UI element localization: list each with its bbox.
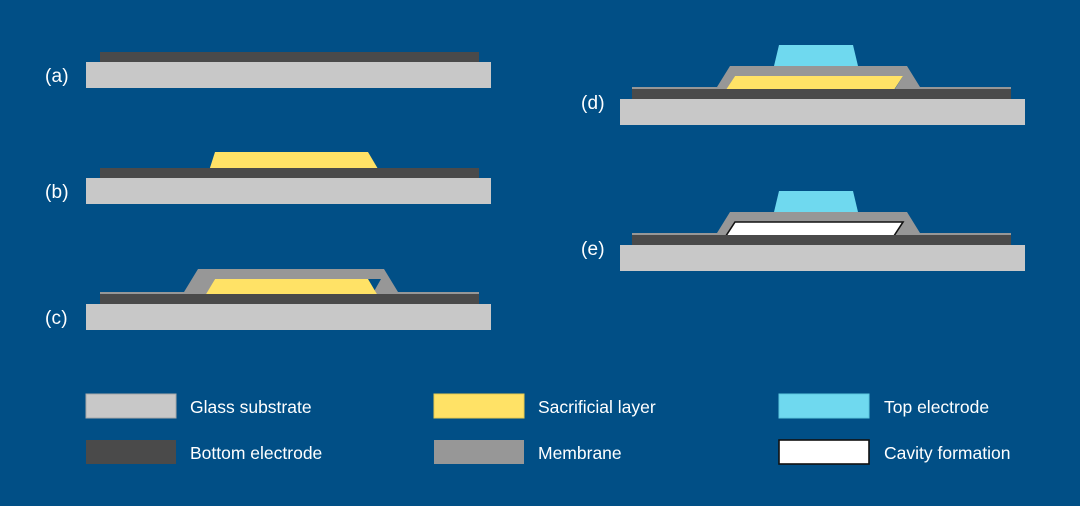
panel-label-e: (e) [581, 239, 605, 261]
legend-label-cavity-formation: Cavity formation [884, 443, 1010, 464]
legend-swatch-cavity-formation [779, 440, 869, 464]
panel-a-bottom-electrode [100, 52, 479, 62]
legend-swatch-bottom-electrode [86, 440, 176, 464]
figure-canvas: (a) (b) (c) (d) (e) Glass substrate Bott… [0, 0, 1080, 506]
panel-c-graphic [86, 269, 491, 330]
panel-d-bottom-electrode [632, 89, 1011, 99]
panel-c-glass-substrate [86, 304, 491, 330]
panel-a-glass-substrate [86, 62, 491, 88]
panel-label-d: (d) [581, 93, 605, 115]
legend-swatch-membrane [434, 440, 524, 464]
panel-e-top-electrode [774, 191, 858, 212]
legend-label-membrane: Membrane [538, 443, 622, 464]
legend-label-glass-substrate: Glass substrate [190, 397, 312, 418]
panel-a-graphic [86, 52, 491, 88]
panel-d-graphic [620, 45, 1025, 125]
panel-d-glass-substrate [620, 99, 1025, 125]
panel-d-top-electrode [774, 45, 858, 66]
panel-c-bottom-electrode [100, 294, 479, 304]
panel-label-c: (c) [45, 308, 68, 330]
process-flow-diagram [0, 0, 1080, 506]
legend-swatch-glass-substrate [86, 394, 176, 418]
legend-swatch-top-electrode [779, 394, 869, 418]
legend-swatch-sacrificial-layer [434, 394, 524, 418]
panel-e-bottom-electrode [632, 235, 1011, 245]
panel-label-a: (a) [45, 66, 69, 88]
panel-label-b: (b) [45, 182, 69, 204]
legend-label-top-electrode: Top electrode [884, 397, 989, 418]
panel-b-bottom-electrode [100, 168, 479, 178]
panel-b-glass-substrate [86, 178, 491, 204]
panel-e-graphic [620, 191, 1025, 271]
panel-e-glass-substrate [620, 245, 1025, 271]
legend-label-bottom-electrode: Bottom electrode [190, 443, 322, 464]
legend-label-sacrificial-layer: Sacrificial layer [538, 397, 656, 418]
panel-b-graphic [86, 152, 491, 204]
